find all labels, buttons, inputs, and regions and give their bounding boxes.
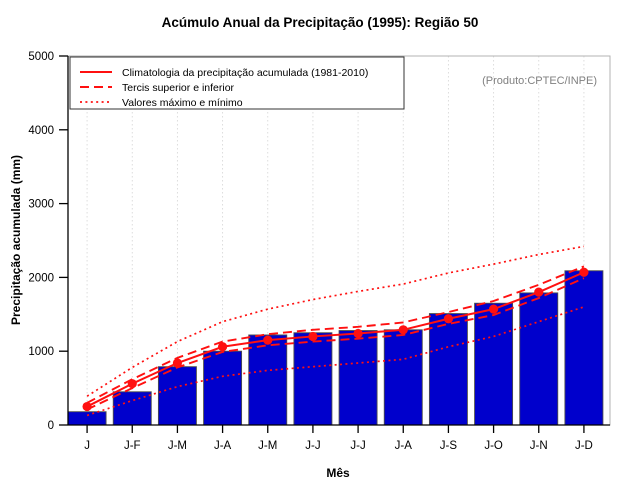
y-axis-label: Precipitação acumulada (mm): [9, 155, 23, 325]
legend-label: Tercis superior e inferior: [122, 82, 235, 94]
y-tick-label: 5000: [28, 51, 54, 63]
x-tick-label: J-D: [575, 440, 593, 452]
precipitation-chart: Acúmulo Anual da Precipitação (1995): Re…: [0, 0, 640, 500]
table-row: [475, 303, 513, 425]
chart-svg: Acúmulo Anual da Precipitação (1995): Re…: [0, 0, 640, 500]
data-point-marker: [308, 332, 317, 341]
x-tick-label: J-J: [350, 440, 365, 452]
x-axis: JJ-FJ-MJ-AJ-MJ-JJ-JJ-AJ-SJ-OJ-NJ-D: [68, 425, 610, 452]
table-row: [294, 333, 332, 425]
y-axis: 010002000300040005000: [28, 51, 68, 432]
legend-label: Valores máximo e mínimo: [122, 97, 243, 109]
data-point-marker: [399, 325, 408, 334]
page-title: Acúmulo Anual da Precipitação (1995): Re…: [162, 15, 479, 30]
table-row: [249, 335, 287, 425]
table-row: [158, 367, 196, 425]
legend-label: Climatologia da precipitação acumulada (…: [122, 67, 368, 79]
table-row: [520, 293, 558, 425]
x-tick-label: J-N: [530, 440, 548, 452]
y-tick-label: 3000: [28, 199, 54, 211]
chart-legend: Climatologia da precipitação acumulada (…: [70, 57, 404, 109]
table-row: [68, 412, 106, 425]
data-point-marker: [218, 342, 227, 351]
x-tick-label: J-S: [440, 440, 458, 452]
x-tick-label: J-A: [214, 440, 232, 452]
data-point-marker: [263, 336, 272, 345]
y-tick-label: 4000: [28, 125, 54, 137]
data-point-marker: [173, 358, 182, 367]
data-point-marker: [128, 379, 137, 388]
table-row: [339, 331, 377, 425]
product-annotation: (Produto:CPTEC/INPE): [482, 75, 597, 87]
table-row: [565, 271, 603, 425]
y-tick-label: 1000: [28, 346, 54, 358]
x-tick-label: J-A: [395, 440, 413, 452]
data-point-marker: [579, 268, 588, 277]
table-row: [204, 351, 242, 425]
table-row: [429, 314, 467, 425]
x-tick-label: J: [84, 440, 90, 452]
x-tick-label: J-M: [168, 440, 187, 452]
table-row: [384, 330, 422, 425]
data-point-marker: [489, 305, 498, 314]
data-point-marker: [353, 329, 362, 338]
data-point-marker: [82, 402, 91, 411]
data-point-marker: [444, 314, 453, 323]
bar-series: [68, 271, 603, 425]
x-tick-label: J-M: [258, 440, 277, 452]
data-point-marker: [534, 288, 543, 297]
x-tick-label: J-O: [484, 440, 503, 452]
x-tick-label: J-F: [124, 440, 141, 452]
y-tick-label: 0: [48, 420, 54, 432]
x-tick-label: J-J: [305, 440, 320, 452]
y-tick-label: 2000: [28, 272, 54, 284]
x-axis-label: Mês: [326, 466, 350, 480]
